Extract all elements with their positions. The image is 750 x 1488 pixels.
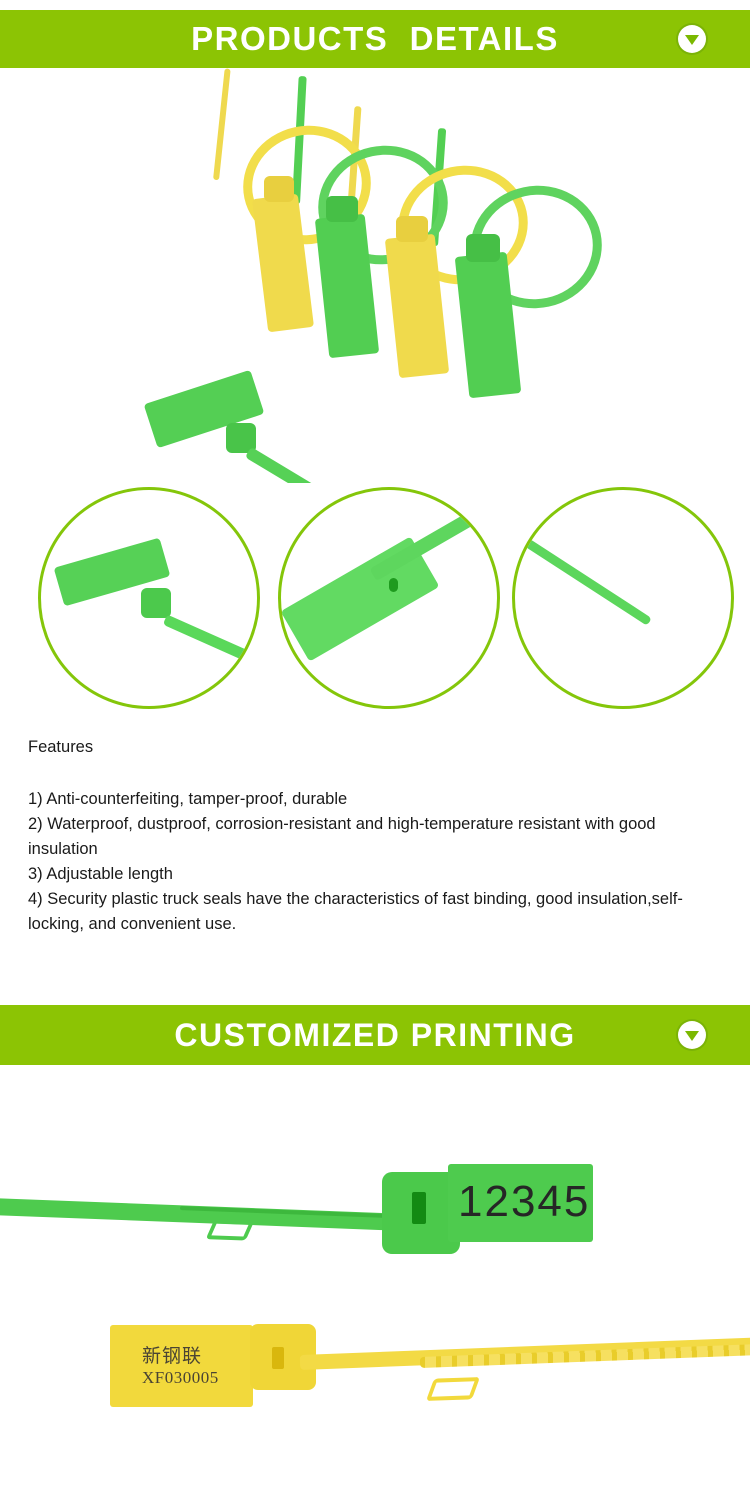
- seal-lock-head-green-2: [466, 234, 500, 262]
- banner-title-products-details: PRODUCTS DETAILS: [191, 20, 559, 58]
- detail-circle-flag-body: [278, 487, 500, 709]
- circle3-strap-tail: [525, 539, 652, 626]
- chevron-down-circle-icon[interactable]: [678, 25, 706, 53]
- hero-product-photo: [0, 68, 750, 483]
- section-banner-products-details: PRODUCTS DETAILS: [0, 10, 750, 68]
- detail-circle-lock-head: [38, 487, 260, 709]
- section-banner-customized-printing: CUSTOMIZED PRINTING: [0, 1005, 750, 1065]
- seal-lock-head-yellow-1: [264, 176, 294, 202]
- yellow-seal-insert-slot: [272, 1347, 284, 1369]
- feature-item-4: 4) Security plastic truck seals have the…: [28, 887, 728, 937]
- product-detail-page: PRODUCTS DETAILS: [0, 0, 750, 1488]
- feature-item-2: 2) Waterproof, dustproof, corrosion-resi…: [28, 812, 728, 862]
- seal-lock-head-green-1: [326, 196, 358, 222]
- detail-circle-strap-tail: [512, 487, 734, 709]
- circle2-strap: [370, 494, 501, 581]
- seal-lock-head-yellow-2: [396, 216, 428, 242]
- green-seal-insert-slot: [412, 1192, 426, 1224]
- yellow-seal-printed-chinese: 新钢联: [142, 1341, 202, 1368]
- yellow-seal-printed-code: XF030005: [142, 1368, 219, 1388]
- circle2-insert-slot: [389, 578, 398, 592]
- detail-circles-row: [0, 483, 750, 718]
- circle1-strap: [163, 614, 260, 669]
- green-seal-diamond-eye: [206, 1219, 255, 1240]
- circle1-lock-head: [141, 588, 171, 618]
- printing-sample-green-seal: 12345: [0, 1150, 750, 1310]
- feature-item-3: 3) Adjustable length: [28, 862, 728, 887]
- yellow-seal-diamond-eye: [426, 1377, 480, 1401]
- foreground-seal-strap: [245, 447, 435, 483]
- features-block: Features 1) Anti-counterfeiting, tamper-…: [28, 738, 728, 937]
- seal-tail-yellow-1: [213, 68, 231, 180]
- features-heading: Features: [28, 738, 728, 757]
- printing-sample-yellow-seal: 新钢联 XF030005: [0, 1300, 750, 1440]
- features-list: 1) Anti-counterfeiting, tamper-proof, du…: [28, 787, 728, 937]
- banner-title-customized-printing: CUSTOMIZED PRINTING: [174, 1017, 575, 1054]
- feature-item-1: 1) Anti-counterfeiting, tamper-proof, du…: [28, 787, 728, 812]
- green-seal-printed-number: 12345: [458, 1177, 590, 1227]
- chevron-down-circle-icon[interactable]: [678, 1021, 706, 1049]
